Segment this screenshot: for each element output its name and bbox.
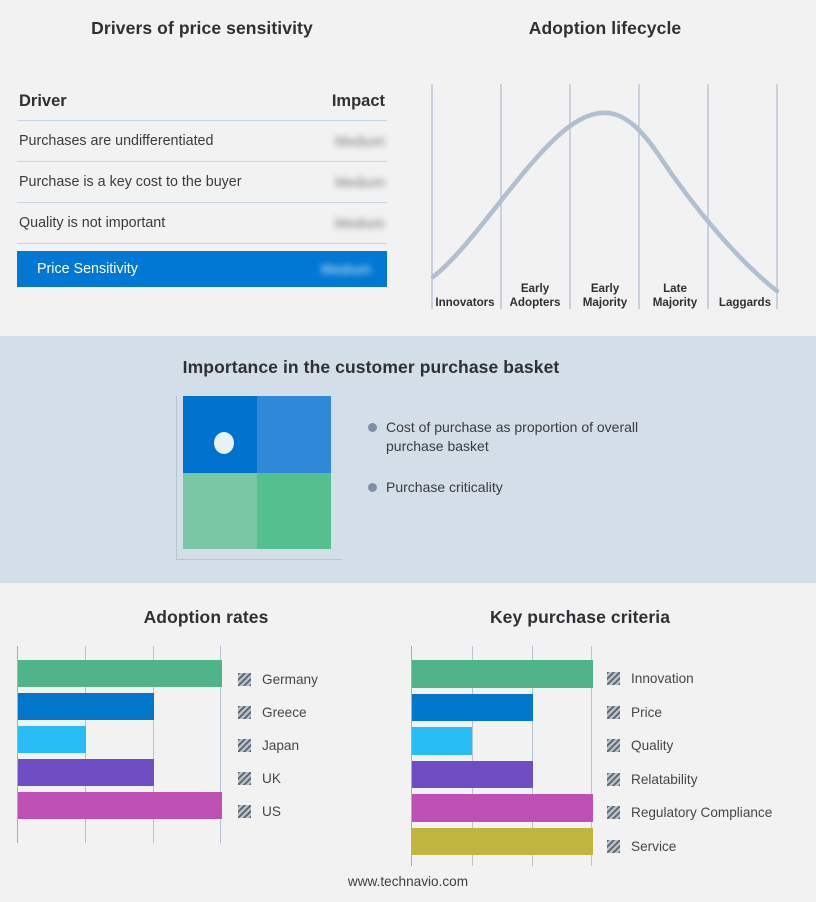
matrix-position-marker: [214, 432, 234, 454]
table-row: Quality is not important Medium: [17, 203, 387, 244]
bar-regulatory-compliance: [412, 794, 593, 822]
list-item: Purchase criticality: [368, 478, 658, 497]
bar-germany: [18, 660, 222, 687]
bar-row: [18, 690, 222, 723]
driver-label: Purchase is a key cost to the buyer: [19, 174, 242, 190]
bar-japan: [18, 726, 86, 753]
key-criteria-legend: InnovationPriceQualityRelatabilityRegula…: [607, 662, 772, 863]
stage-line-2: Majority: [653, 296, 697, 310]
adoption-lifecycle-chart: [430, 84, 780, 309]
legend-label: Germany: [262, 672, 318, 687]
bullet-icon: [368, 423, 377, 432]
legend-item: Regulatory Compliance: [607, 796, 772, 830]
legend-label: Innovation: [631, 671, 694, 686]
legend-label: Quality: [631, 738, 673, 753]
list-item: Cost of purchase as proportion of overal…: [368, 418, 658, 456]
adoption-rates-chart-title: Adoption rates: [17, 607, 395, 628]
bar-row: [412, 724, 593, 758]
driver-label: Price Sensitivity: [37, 261, 138, 277]
hatch-swatch-icon: [607, 739, 620, 752]
impact-value: Medium: [335, 216, 385, 231]
lifecycle-panel-title: Adoption lifecycle: [430, 18, 780, 39]
legend-item: Germany: [238, 663, 318, 696]
stage-line-2: Innovators: [435, 296, 494, 310]
legend-item: US: [238, 795, 318, 828]
bar-rows: [18, 657, 222, 822]
bar-relatability: [412, 761, 533, 789]
bar-row: [18, 657, 222, 690]
bar-price: [412, 694, 533, 722]
bullet-icon: [368, 483, 377, 492]
hatch-swatch-icon: [238, 805, 251, 818]
impact-value: Medium: [335, 134, 385, 149]
impact-value: Medium: [321, 262, 371, 277]
driver-label: Purchases are undifferentiated: [19, 133, 213, 149]
lifecycle-stage-early-adopters: Early Adopters: [500, 278, 570, 310]
stage-line-2: Adopters: [510, 296, 561, 310]
legend-item: Greece: [238, 696, 318, 729]
infographic-page: Drivers of price sensitivity Driver Impa…: [0, 0, 816, 902]
hatch-swatch-icon: [607, 773, 620, 786]
basket-legend-label: Purchase criticality: [386, 478, 503, 497]
lifecycle-stage-laggards: Laggards: [710, 278, 780, 310]
legend-label: US: [262, 804, 281, 819]
legend-item: Relatability: [607, 763, 772, 797]
quadrant-top-right: [257, 396, 331, 473]
bar-row: [412, 791, 593, 825]
bar-row: [412, 825, 593, 859]
basket-panel-title: Importance in the customer purchase bask…: [0, 357, 742, 378]
hatch-swatch-icon: [607, 806, 620, 819]
legend-item: Price: [607, 696, 772, 730]
table-row: Purchases are undifferentiated Medium: [17, 121, 387, 162]
adoption-curve: [433, 113, 777, 291]
lifecycle-stage-late-majority: Late Majority: [640, 278, 710, 310]
legend-label: Japan: [262, 738, 299, 753]
legend-item: Quality: [607, 729, 772, 763]
bar-row: [18, 756, 222, 789]
column-header-driver: Driver: [19, 92, 67, 111]
bar-row: [18, 789, 222, 822]
hatch-swatch-icon: [607, 706, 620, 719]
lifecycle-dividers: [432, 84, 777, 309]
stage-line-1: Early: [591, 282, 619, 296]
quadrant-bottom-left: [183, 473, 257, 550]
hatch-swatch-icon: [607, 840, 620, 853]
bar-greece: [18, 693, 154, 720]
lifecycle-svg: [430, 84, 780, 309]
table-row-highlighted: Price Sensitivity Medium: [17, 251, 387, 287]
adoption-rates-legend: GermanyGreeceJapanUKUS: [238, 663, 318, 828]
lifecycle-stage-labels: Innovators Early Adopters Early Majority…: [430, 278, 780, 310]
drivers-panel-title: Drivers of price sensitivity: [17, 18, 387, 39]
bar-us: [18, 792, 222, 819]
legend-item: UK: [238, 762, 318, 795]
bar-rows: [412, 657, 593, 858]
hatch-swatch-icon: [238, 739, 251, 752]
purchase-basket-matrix: [176, 396, 342, 560]
legend-label: Greece: [262, 705, 307, 720]
drivers-table: Driver Impact Purchases are undifferenti…: [17, 92, 387, 287]
legend-item: Service: [607, 830, 772, 864]
basket-legend: Cost of purchase as proportion of overal…: [368, 418, 658, 519]
adoption-rates-chart: [17, 646, 222, 843]
key-criteria-chart: [411, 646, 593, 866]
legend-item: Japan: [238, 729, 318, 762]
legend-label: Service: [631, 839, 676, 854]
stage-line-1: Late: [663, 282, 687, 296]
footer-url: www.technavio.com: [0, 874, 816, 889]
stage-line-2: Majority: [583, 296, 627, 310]
bar-quality: [412, 727, 472, 755]
lifecycle-stage-innovators: Innovators: [430, 278, 500, 310]
driver-label: Quality is not important: [19, 215, 165, 231]
drivers-table-header: Driver Impact: [17, 92, 387, 121]
column-header-impact: Impact: [332, 92, 385, 111]
bar-row: [18, 723, 222, 756]
quadrant-bottom-right: [257, 473, 331, 550]
bar-row: [412, 691, 593, 725]
bar-row: [412, 657, 593, 691]
legend-label: Relatability: [631, 772, 698, 787]
legend-item: Innovation: [607, 662, 772, 696]
hatch-swatch-icon: [238, 673, 251, 686]
stage-line-1: Early: [521, 282, 549, 296]
adoption-rates-plot-area: [17, 646, 222, 843]
hatch-swatch-icon: [607, 672, 620, 685]
stage-line-2: Laggards: [719, 296, 771, 310]
hatch-swatch-icon: [238, 772, 251, 785]
bar-innovation: [412, 660, 593, 688]
legend-label: Price: [631, 705, 662, 720]
table-row: Purchase is a key cost to the buyer Medi…: [17, 162, 387, 203]
key-criteria-plot-area: [411, 646, 593, 866]
impact-value: Medium: [335, 175, 385, 190]
key-criteria-chart-title: Key purchase criteria: [400, 607, 760, 628]
hatch-swatch-icon: [238, 706, 251, 719]
legend-label: Regulatory Compliance: [631, 805, 772, 820]
bar-row: [412, 758, 593, 792]
bar-uk: [18, 759, 154, 786]
basket-legend-label: Cost of purchase as proportion of overal…: [386, 418, 658, 456]
bar-service: [412, 828, 593, 856]
lifecycle-stage-early-majority: Early Majority: [570, 278, 640, 310]
matrix-quadrants: [183, 396, 331, 549]
legend-label: UK: [262, 771, 281, 786]
